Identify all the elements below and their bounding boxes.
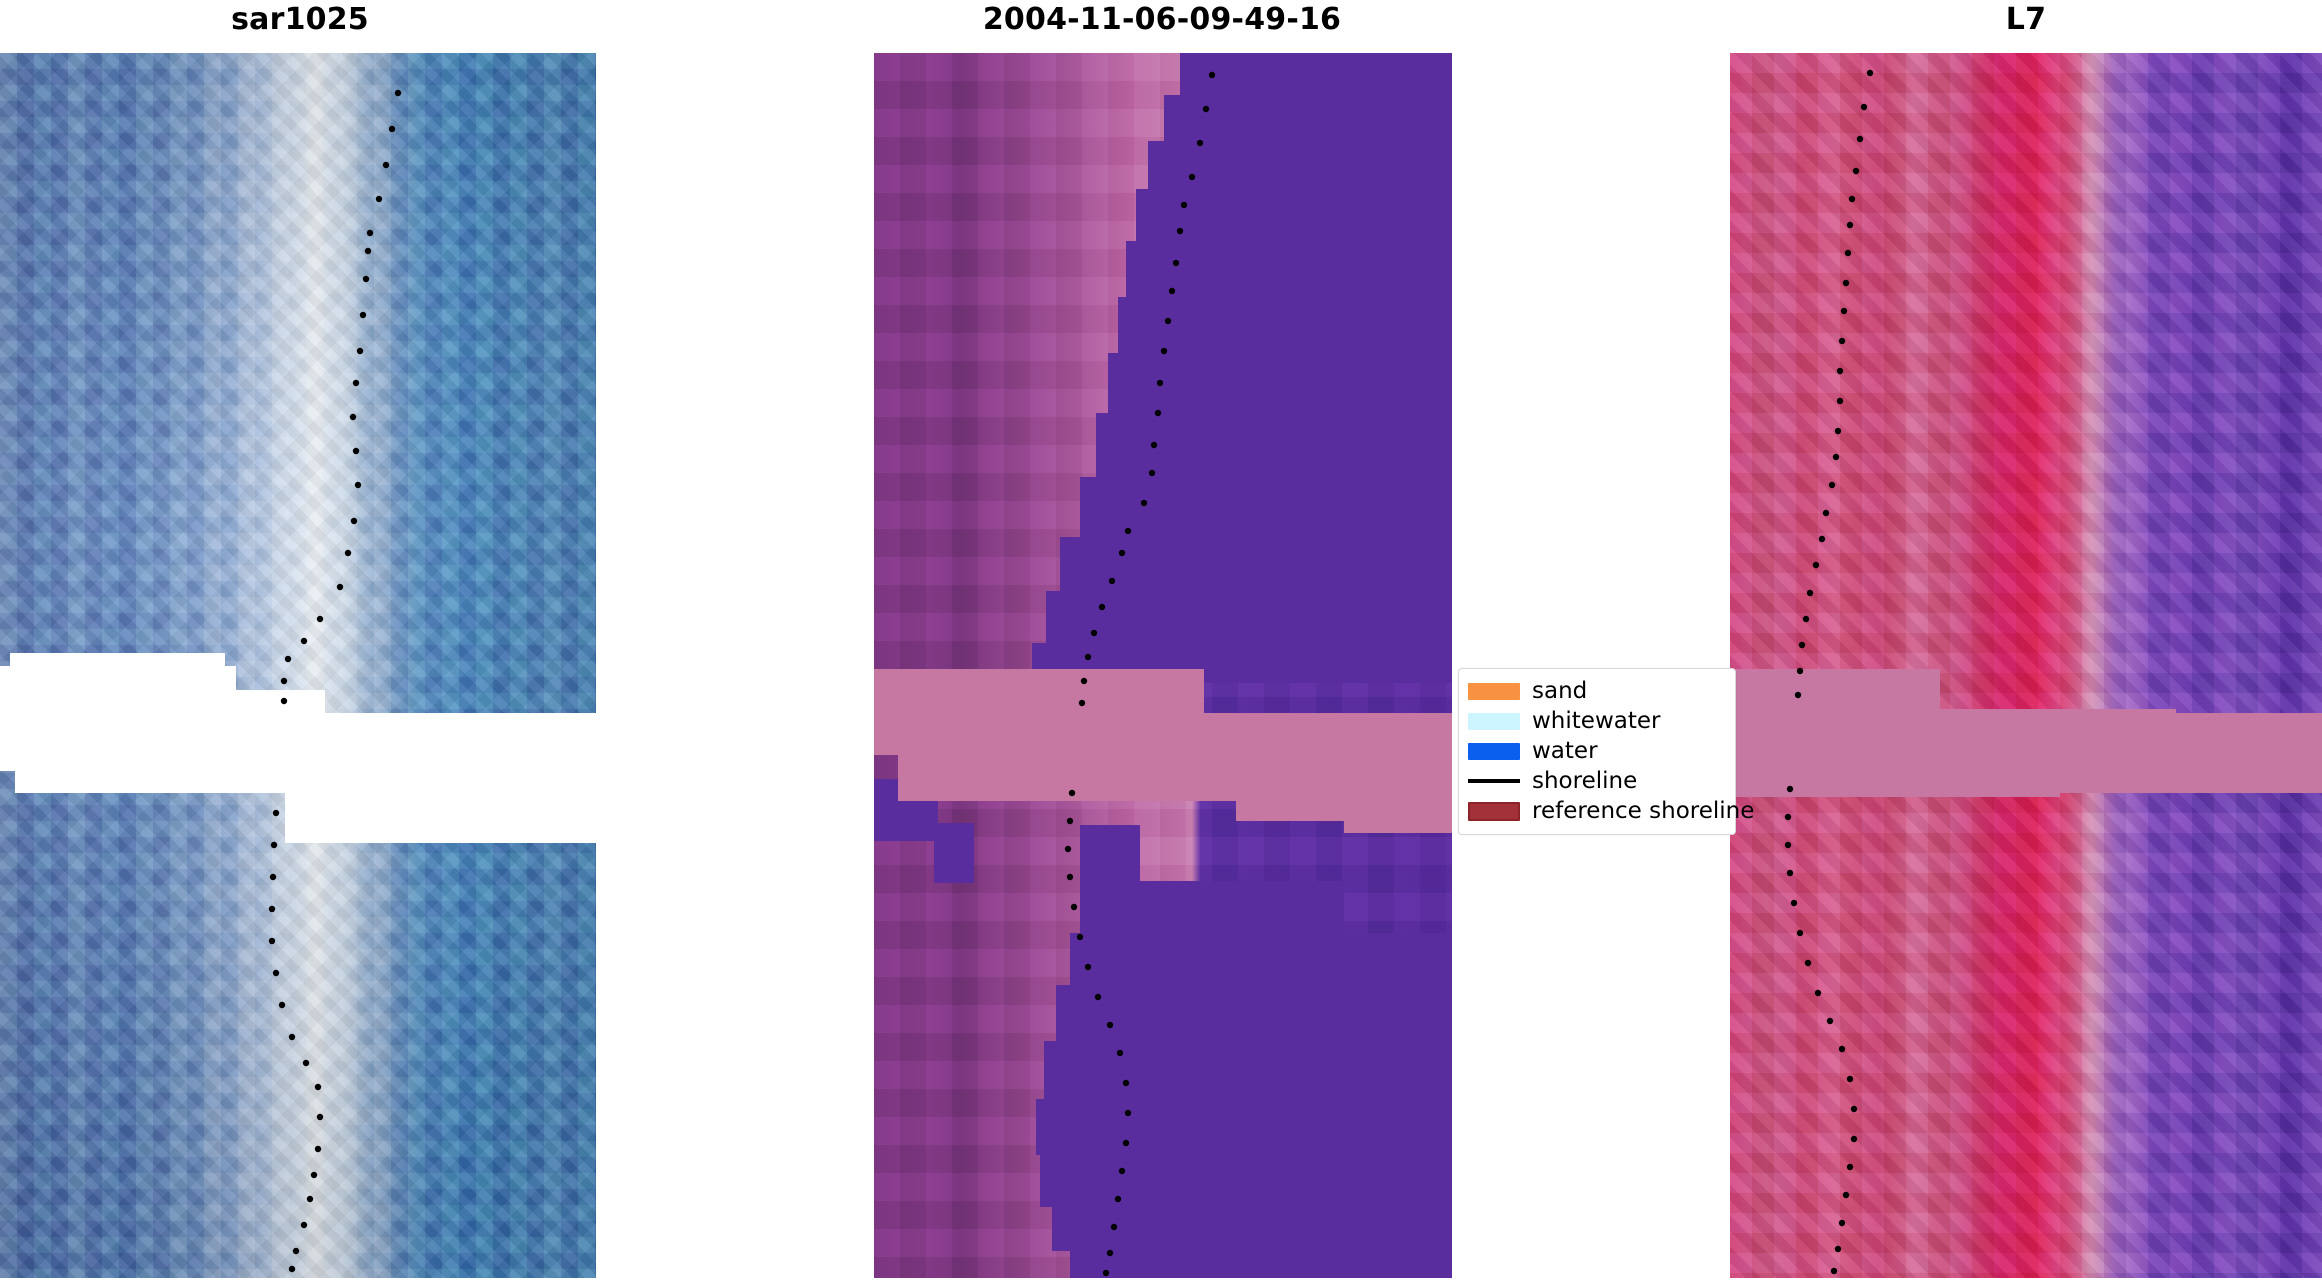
reference-band-segment bbox=[1730, 709, 2176, 755]
panel-sar-image[interactable] bbox=[0, 53, 596, 1278]
nodata-gap-step bbox=[53, 753, 285, 793]
panel-l7-image[interactable] bbox=[1730, 53, 2322, 1278]
reference-band-segment bbox=[874, 669, 1204, 715]
nodata-gap-step bbox=[400, 753, 596, 771]
nodata-gap-step bbox=[0, 725, 596, 755]
reference-band-segment bbox=[2176, 713, 2322, 755]
color-swatch-icon bbox=[1468, 683, 1520, 700]
classified-raster bbox=[874, 53, 1452, 1278]
legend-item-label: whitewater bbox=[1532, 708, 1660, 734]
legend-item-whitewater[interactable]: whitewater bbox=[1468, 706, 1726, 736]
panel-classified-image[interactable] bbox=[874, 53, 1452, 1278]
legend-item-label: shoreline bbox=[1532, 768, 1637, 794]
reference-band-segment bbox=[1236, 753, 1354, 781]
color-swatch-icon bbox=[1468, 743, 1520, 760]
shoreline-comparison-figure: sar1025 2004-11-06-09-49-16 L7 bbox=[0, 0, 2322, 1283]
legend-item-label: sand bbox=[1532, 678, 1587, 704]
legend-item-water[interactable]: water bbox=[1468, 736, 1726, 766]
panel-title-l7: L7 bbox=[1730, 2, 2322, 37]
reference-band-segment bbox=[898, 753, 1236, 801]
color-swatch-icon bbox=[1468, 713, 1520, 730]
reference-band-segment bbox=[2060, 753, 2322, 793]
legend-item-sand[interactable]: sand bbox=[1468, 676, 1726, 706]
color-swatch-icon bbox=[1468, 802, 1520, 821]
legend-item-label: reference shoreline bbox=[1532, 798, 1754, 824]
l7-speckle-texture bbox=[1730, 53, 2322, 1278]
legend-item-reference-shoreline[interactable]: reference shoreline bbox=[1468, 796, 1726, 826]
reference-band-segment bbox=[1730, 753, 2060, 797]
nodata-gap-step bbox=[15, 753, 53, 793]
panel-title-classified: 2004-11-06-09-49-16 bbox=[872, 2, 1452, 37]
l7-raster bbox=[1730, 53, 2322, 1278]
legend-box[interactable]: sand whitewater water shoreline referenc… bbox=[1458, 668, 1736, 835]
panel-title-sar: sar1025 bbox=[0, 2, 600, 37]
nodata-gap-step bbox=[0, 721, 15, 763]
classified-water-region bbox=[874, 53, 1452, 1278]
reference-band-segment bbox=[1344, 759, 1452, 833]
legend-item-shoreline[interactable]: shoreline bbox=[1468, 766, 1726, 796]
legend-item-label: water bbox=[1532, 738, 1598, 764]
line-swatch-icon bbox=[1468, 779, 1520, 783]
